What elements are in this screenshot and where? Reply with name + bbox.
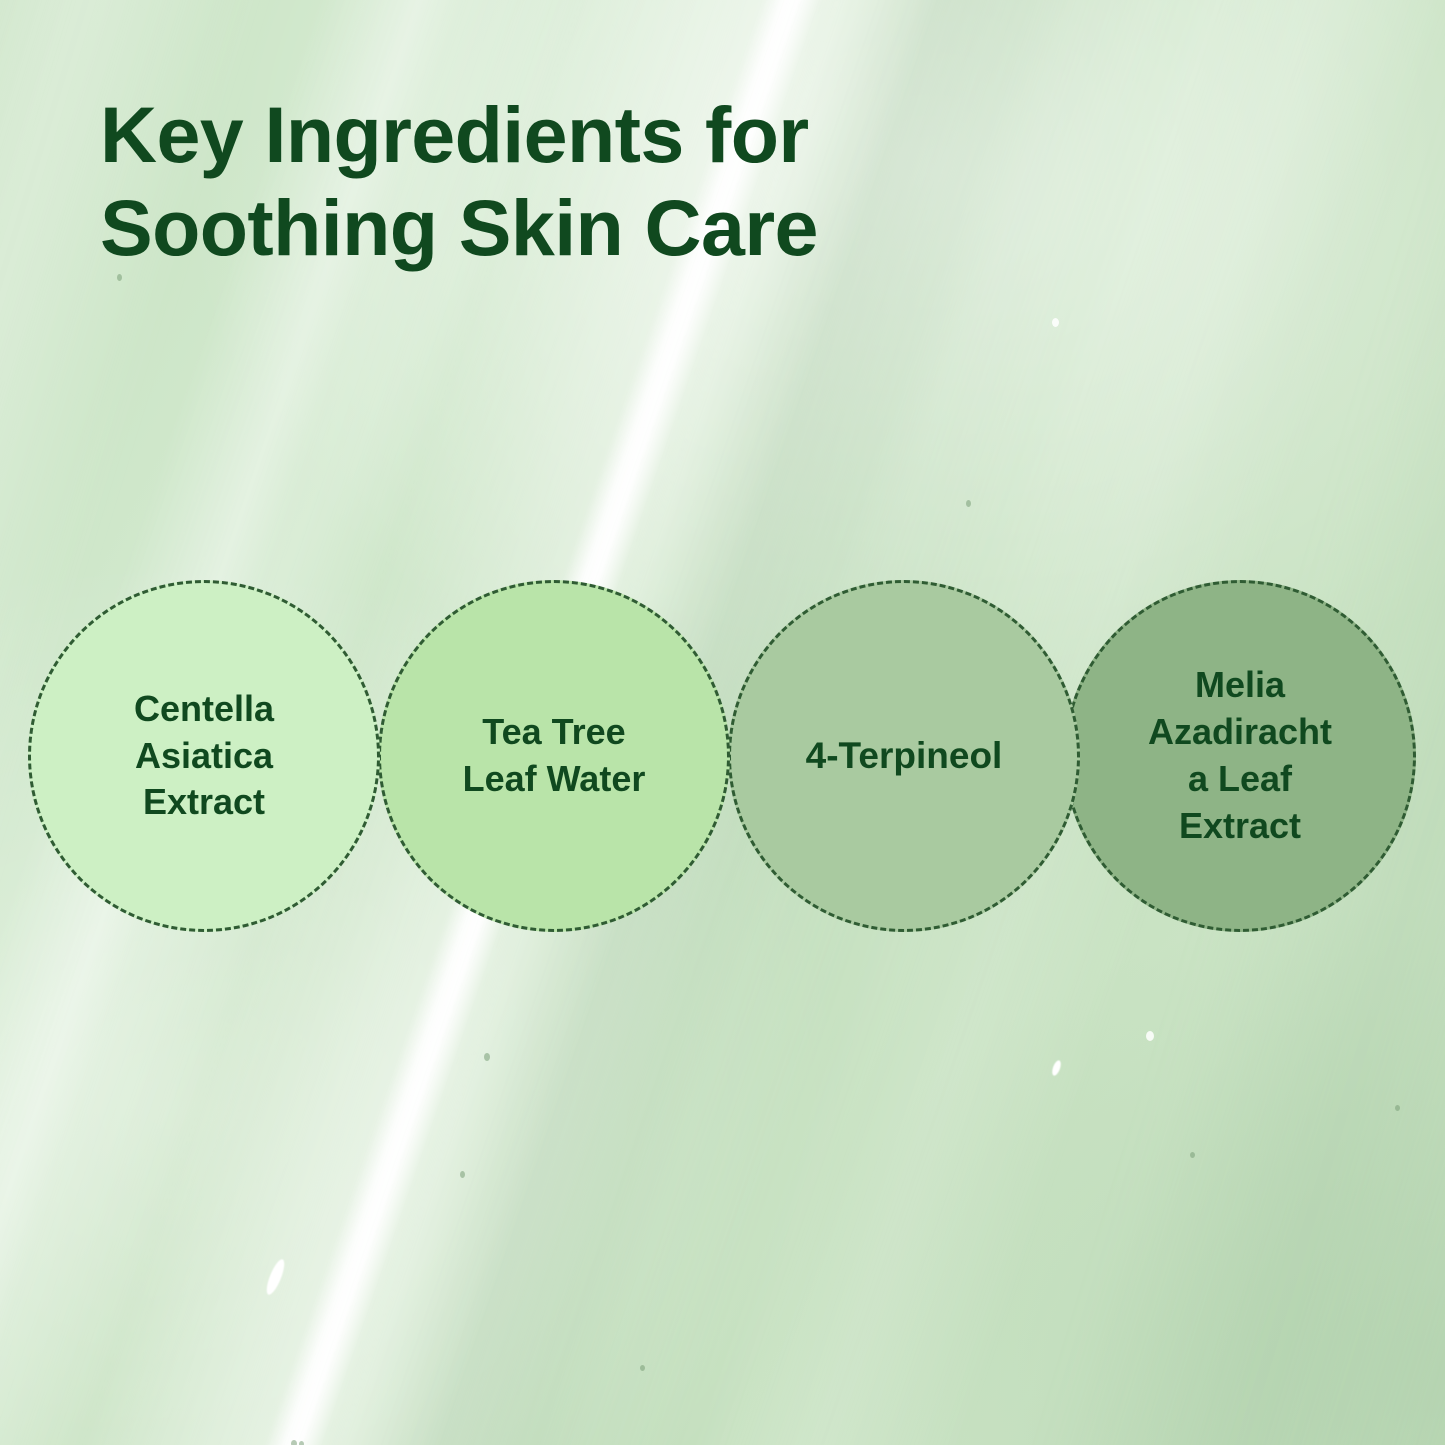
ingredient-poster: Key Ingredients for Soothing Skin Care C… xyxy=(0,0,1445,1445)
gel-speck xyxy=(117,274,122,281)
gel-speck xyxy=(1190,1152,1195,1158)
page-title: Key Ingredients for Soothing Skin Care xyxy=(100,88,1030,274)
gel-speck xyxy=(640,1365,645,1371)
ingredient-label: 4-Terpineol xyxy=(772,732,1037,780)
gel-speck xyxy=(1146,1031,1154,1041)
gel-speck xyxy=(460,1171,465,1178)
gel-speck xyxy=(299,1441,304,1445)
ingredient-circle-centella-asiatica-extract[interactable]: Centella Asiatica Extract xyxy=(28,580,380,932)
ingredient-circle-4-terpineol[interactable]: 4-Terpineol xyxy=(728,580,1080,932)
gel-speck xyxy=(1052,318,1059,327)
gel-speck xyxy=(484,1053,490,1061)
ingredient-circle-row: Centella Asiatica Extract Tea Tree Leaf … xyxy=(0,580,1445,940)
ingredient-label: Tea Tree Leaf Water xyxy=(429,709,680,803)
gel-speck xyxy=(291,1440,297,1445)
ingredient-label: Centella Asiatica Extract xyxy=(100,686,308,826)
ingredient-circle-tea-tree-leaf-water[interactable]: Tea Tree Leaf Water xyxy=(378,580,730,932)
gel-speck xyxy=(966,500,971,507)
ingredient-label: Melia Azadiracht a Leaf Extract xyxy=(1124,662,1356,849)
ingredient-circle-melia-azadirachta-leaf-extract[interactable]: Melia Azadiracht a Leaf Extract xyxy=(1064,580,1416,932)
gel-speck xyxy=(1395,1105,1400,1111)
